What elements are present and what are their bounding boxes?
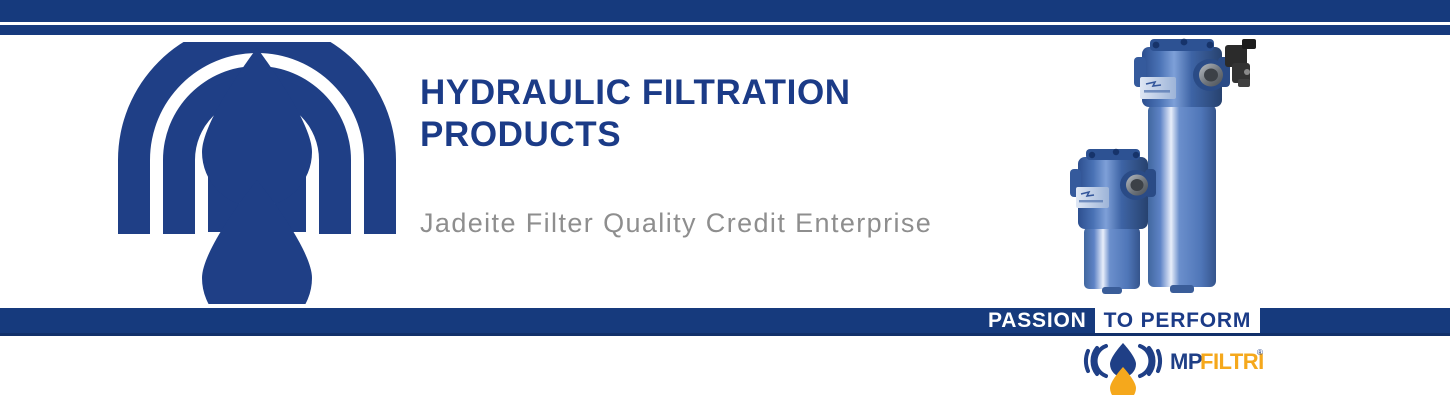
hydraulic-filter-housings-photo — [1062, 27, 1312, 308]
subheadline: Jadeite Filter Quality Credit Enterprise — [420, 208, 932, 239]
bottom-hairline — [0, 333, 1450, 336]
small-filter-housing — [1070, 149, 1156, 294]
tagline-to-perform: TO PERFORM — [1095, 308, 1261, 333]
tagline-passion: PASSION — [988, 308, 1091, 333]
jadeite-ripple-drop-logo — [112, 42, 402, 304]
headline-line-2: PRODUCTS — [420, 114, 1040, 156]
mpfiltri-ripple-drop-mark — [1086, 343, 1160, 395]
headline-line-1: HYDRAULIC FILTRATION — [420, 72, 1040, 114]
headline-block: HYDRAULIC FILTRATION PRODUCTS — [420, 72, 1040, 156]
mpfiltri-text-filtri: FILTRI — [1200, 349, 1264, 374]
top-rule-thick — [0, 0, 1450, 22]
large-filter-housing — [1134, 39, 1256, 293]
hydraulic-filtration-banner: HYDRAULIC FILTRATION PRODUCTS Jadeite Fi… — [0, 0, 1450, 400]
mpfiltri-text-mp: MP — [1170, 349, 1202, 374]
tagline-strip: PASSION TO PERFORM — [988, 308, 1260, 333]
mpfiltri-logo: MP FILTRI ® — [1082, 339, 1264, 395]
registered-mark-icon: ® — [1257, 348, 1263, 357]
